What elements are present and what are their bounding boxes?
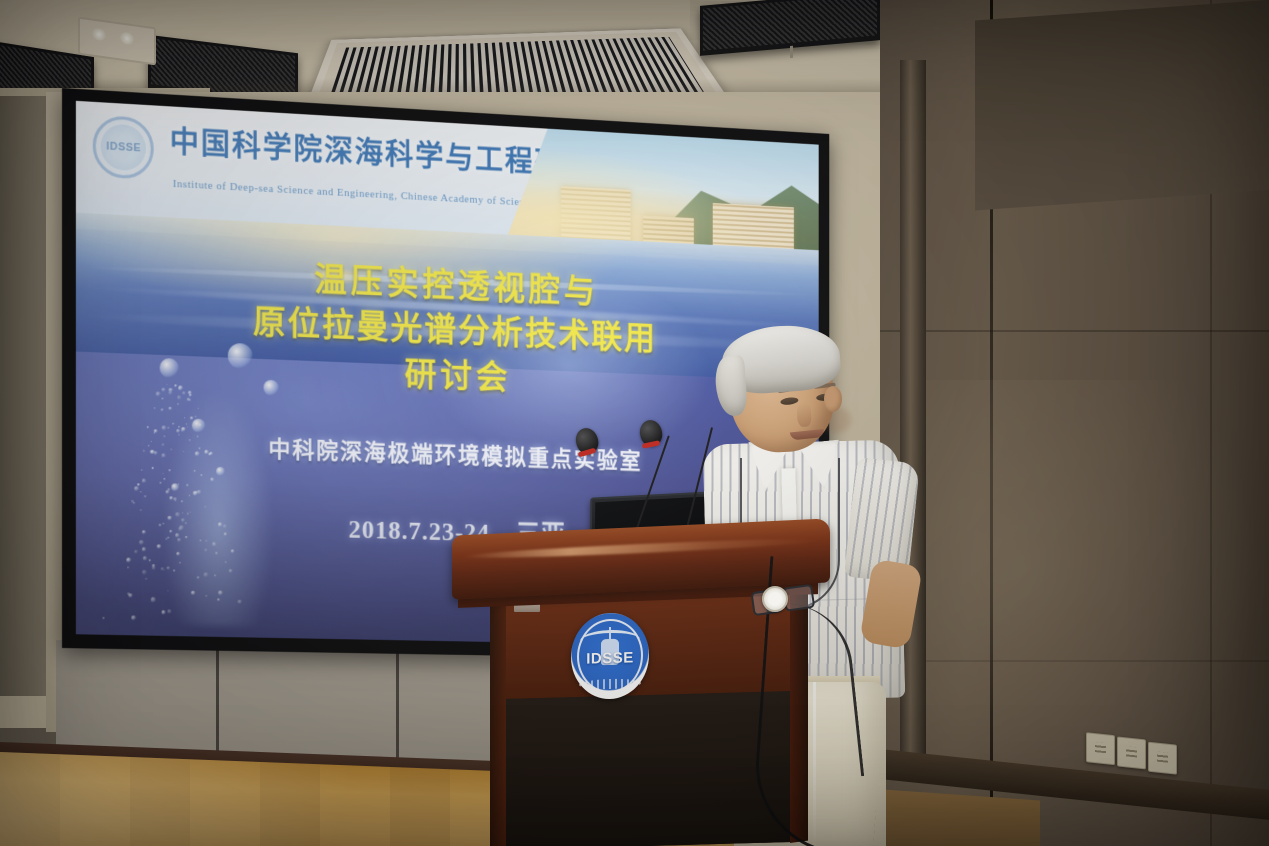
bubble — [231, 549, 235, 553]
institute-name-en: Institute of Deep-sea Science and Engine… — [173, 178, 540, 209]
podium-emblem-text: IDSSE — [586, 649, 634, 667]
bubble — [203, 573, 208, 578]
bubble — [182, 391, 185, 394]
bubble — [142, 570, 147, 575]
bubble — [150, 597, 155, 602]
bubble — [145, 578, 147, 580]
bubble — [225, 561, 227, 563]
speaker-hair-side — [714, 355, 748, 417]
bubble — [172, 483, 180, 491]
bubble — [149, 559, 151, 561]
bubble — [142, 479, 147, 484]
bubble — [177, 403, 179, 405]
bubble — [103, 617, 105, 619]
bubble — [204, 549, 207, 552]
bubble — [155, 391, 160, 396]
bubble — [162, 388, 166, 392]
bubble — [189, 495, 190, 496]
wall-socket[interactable] — [1086, 732, 1115, 765]
bubble — [174, 570, 175, 571]
institute-seal-text: IDSSE — [106, 140, 141, 154]
bubble — [161, 610, 165, 614]
bubble — [199, 424, 202, 427]
bubble — [201, 474, 203, 476]
bubble — [152, 467, 154, 469]
bubble — [144, 495, 146, 498]
bubble — [186, 424, 187, 425]
bubble — [215, 552, 218, 555]
bubble — [182, 501, 184, 503]
wall-right-upper-panel — [975, 0, 1269, 210]
podium-body — [504, 591, 792, 846]
bubble — [129, 594, 133, 598]
bubble — [152, 566, 156, 570]
bubble — [178, 483, 179, 484]
bubble — [137, 484, 140, 487]
bubble — [154, 407, 156, 409]
bubble — [126, 557, 131, 562]
bubble — [134, 486, 138, 491]
bubble — [217, 598, 220, 601]
wall-socket[interactable] — [1148, 742, 1177, 775]
wristwatch-icon — [762, 586, 788, 612]
wall-socket[interactable] — [1117, 736, 1146, 769]
institute-seal-icon: IDSSE — [93, 115, 154, 180]
bubble — [197, 490, 201, 494]
bubble — [143, 556, 148, 561]
bubble — [159, 482, 161, 484]
bubble — [167, 566, 170, 569]
bubble — [165, 490, 169, 494]
bubble — [157, 544, 161, 548]
gooseneck-microphone-icon[interactable] — [576, 430, 636, 534]
bubble — [179, 562, 181, 564]
gooseneck-microphone-icon[interactable] — [640, 424, 686, 536]
bubble — [139, 540, 144, 545]
bubble — [140, 491, 142, 493]
bubble — [169, 496, 172, 500]
bubble — [216, 467, 225, 476]
speaker-ear — [824, 386, 842, 412]
bubble — [218, 590, 223, 595]
bubble — [142, 547, 147, 552]
bubble — [131, 615, 136, 620]
bubble — [189, 394, 192, 397]
conference-photo-scene: IDSSE 中国科学院深海科学与工程研究所 Institute of Deep-… — [0, 0, 1269, 846]
bubble — [195, 416, 197, 418]
bubble — [141, 469, 142, 470]
bubble — [161, 567, 164, 570]
bubble — [172, 422, 174, 424]
bubble — [194, 470, 196, 472]
bubble — [177, 395, 181, 400]
bubble — [127, 567, 129, 569]
bubble — [167, 609, 171, 614]
bubble — [134, 549, 138, 553]
bubble — [161, 409, 164, 412]
